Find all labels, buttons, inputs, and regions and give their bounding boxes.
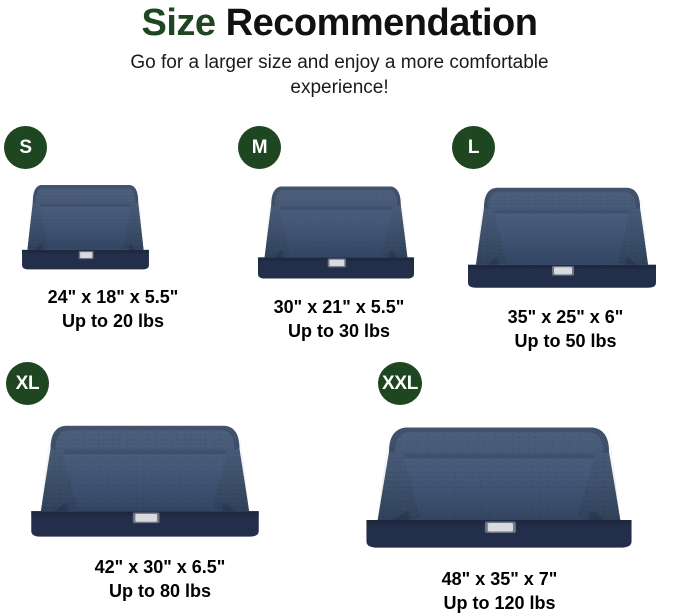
- size-dimensions: 30" x 21" x 5.5": [274, 295, 405, 319]
- size-badge-m: M: [238, 126, 281, 169]
- size-row-small: S 24" x 18: [0, 126, 679, 354]
- size-dimensions: 42" x 30" x 6.5": [95, 555, 226, 579]
- size-badge-xl: XL: [6, 362, 49, 405]
- size-caption: 42" x 30" x 6.5"Up to 80 lbs: [95, 555, 226, 604]
- page-subtitle: Go for a larger size and enjoy a more co…: [105, 50, 575, 100]
- size-badge-s: S: [4, 126, 47, 169]
- size-weight-limit: Up to 20 lbs: [48, 309, 179, 333]
- bed-stage: [0, 406, 320, 548]
- bed-label-tag: [552, 266, 574, 276]
- bed-shading: [378, 428, 621, 520]
- size-weight-limit: Up to 80 lbs: [95, 579, 226, 603]
- size-caption: 48" x 35" x 7"Up to 120 lbs: [442, 567, 558, 616]
- page-title-accent: Size: [142, 2, 216, 44]
- dog-bed-illustration: [358, 406, 640, 560]
- badge-slot: XL: [0, 362, 320, 406]
- bed-shading: [476, 188, 648, 265]
- size-weight-limit: Up to 30 lbs: [274, 319, 405, 343]
- bed-label-tag: [485, 522, 516, 534]
- bed-shading: [27, 185, 143, 250]
- size-dimensions: 35" x 25" x 6": [508, 305, 624, 329]
- bed-stage: [0, 170, 226, 278]
- size-weight-limit: Up to 120 lbs: [442, 591, 558, 615]
- size-card-m: M 30" x 21: [226, 126, 452, 354]
- size-weight-limit: Up to 50 lbs: [508, 329, 624, 353]
- page-header: Size Recommendation Go for a larger size…: [0, 0, 679, 100]
- size-dimensions: 48" x 35" x 7": [442, 567, 558, 591]
- size-caption: 24" x 18" x 5.5"Up to 20 lbs: [48, 285, 179, 334]
- size-badge-l: L: [452, 126, 495, 169]
- page-title-rest: Recommendation: [226, 2, 538, 44]
- size-dimensions: 24" x 18" x 5.5": [48, 285, 179, 309]
- bed-label-tag: [79, 251, 94, 259]
- bed-stage: [320, 406, 679, 560]
- bed-shading: [41, 426, 249, 511]
- badge-slot: M: [226, 126, 452, 170]
- badge-slot: L: [452, 126, 679, 170]
- bed-label-tag: [133, 513, 160, 524]
- bed-stage: [452, 170, 679, 298]
- size-card-s: S 24" x 18: [0, 126, 226, 354]
- dog-bed-illustration: [24, 406, 266, 548]
- bed-stage: [226, 170, 452, 288]
- page-title: Size Recommendation: [0, 4, 679, 44]
- bed-shading: [265, 187, 408, 258]
- size-caption: 30" x 21" x 5.5"Up to 30 lbs: [274, 295, 405, 344]
- size-card-xxl: XXL 48" x: [320, 362, 679, 616]
- bed-label-tag: [328, 259, 346, 268]
- size-card-l: L 35" x 25: [452, 126, 679, 354]
- size-caption: 35" x 25" x 6"Up to 50 lbs: [508, 305, 624, 354]
- badge-slot: S: [0, 126, 226, 170]
- size-badge-xxl: XXL: [378, 362, 422, 405]
- badge-slot: XXL: [320, 362, 679, 406]
- dog-bed-illustration: [253, 170, 419, 288]
- dog-bed-illustration: [462, 170, 662, 298]
- size-card-xl: XL 42" x 3: [0, 362, 320, 616]
- size-row-large: XL 42" x 3: [0, 362, 679, 616]
- dog-bed-illustration: [18, 170, 153, 278]
